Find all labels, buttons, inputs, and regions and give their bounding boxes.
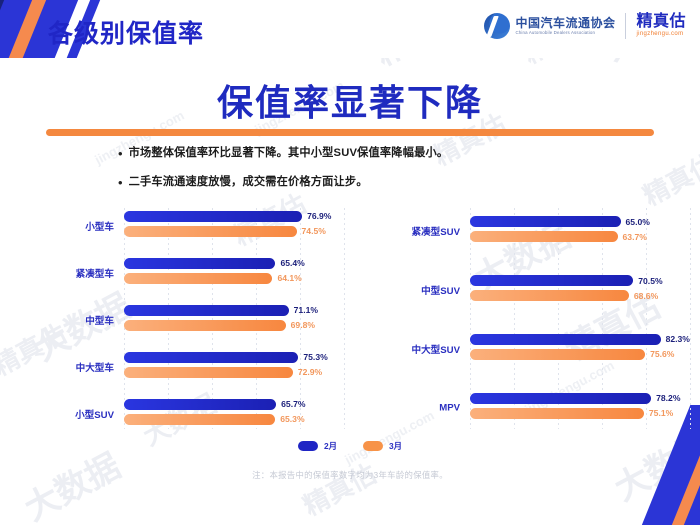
bar-value-label: 82.3% [666, 334, 690, 344]
slide-header: 各级别保值率 中国汽车流通协会 China Automobile Dealers… [0, 0, 700, 58]
bar-group: MPV78.2%75.1% [470, 393, 690, 423]
bar-feb[interactable] [124, 211, 302, 222]
bar-mar[interactable] [124, 320, 286, 331]
bar-row: 75.6% [470, 349, 690, 360]
chart-right: 紧凑型SUV65.0%63.7%中型SUV70.5%68.6%中大型SUV82.… [360, 200, 690, 435]
legend-swatch-icon [363, 441, 383, 451]
jingzhengu-name-cn: 精真估 [636, 14, 686, 31]
bar-row: 65.0% [470, 216, 690, 227]
footnote: 注：本报告中的保值率数字均为3年车龄的保值率。 [0, 469, 700, 481]
bar-row: 65.7% [124, 399, 344, 410]
bar-feb[interactable] [470, 334, 661, 345]
bar-value-label: 65.4% [280, 258, 304, 268]
bar-mar[interactable] [124, 273, 272, 284]
bullet-text: 二手车流通速度放慢，成交需在价格方面让步。 [129, 175, 368, 190]
category-label: 中大型车 [76, 360, 114, 374]
slide-root: 精真估大数据精真估大数据精真估精真估大数据精真估大数据大数据jingzhengu… [0, 0, 700, 525]
title-divider [46, 129, 654, 136]
bar-mar[interactable] [470, 408, 644, 419]
category-label: MPV [439, 402, 460, 413]
legend-label: 3月 [389, 440, 402, 452]
bar-group: 中大型车75.3%72.9% [124, 352, 344, 382]
bar-row: 72.9% [124, 367, 344, 378]
bar-group: 紧凑型车65.4%64.1% [124, 258, 344, 288]
bar-mar[interactable] [124, 367, 293, 378]
bar-mar[interactable] [470, 231, 618, 242]
bar-row: 71.1% [124, 305, 344, 316]
charts-area: 小型车76.9%74.5%紧凑型车65.4%64.1%中型车71.1%69.8%… [0, 200, 700, 435]
bar-group: 小型车76.9%74.5% [124, 211, 344, 241]
bar-feb[interactable] [470, 393, 651, 404]
bullet-item: •市场整体保值率环比显著下降。其中小型SUV保值率降幅最小。 [118, 146, 618, 161]
bar-row: 64.1% [124, 273, 344, 284]
category-label: 中型SUV [421, 283, 460, 297]
jingzhengu-logo: 精真估 jingzhengu.com [636, 14, 686, 39]
bar-row: 70.5% [470, 275, 690, 286]
category-label: 紧凑型SUV [411, 224, 460, 238]
gridline [344, 208, 345, 429]
legend-item[interactable]: 3月 [363, 440, 402, 452]
bar-value-label: 78.2% [656, 393, 680, 403]
category-label: 中大型SUV [411, 342, 460, 356]
bar-value-label: 65.3% [280, 414, 304, 424]
watermark-text: 精真估 [296, 454, 382, 523]
plot-area: 紧凑型SUV65.0%63.7%中型SUV70.5%68.6%中大型SUV82.… [470, 200, 690, 435]
bar-feb[interactable] [124, 352, 298, 363]
bullet-marker-icon: • [118, 175, 123, 190]
bar-group: 中型SUV70.5%68.6% [470, 275, 690, 305]
bar-mar[interactable] [470, 290, 629, 301]
bullet-list: •市场整体保值率环比显著下降。其中小型SUV保值率降幅最小。•二手车流通速度放慢… [118, 146, 618, 204]
bar-group: 中大型SUV82.3%75.6% [470, 334, 690, 364]
bar-value-label: 76.9% [307, 211, 331, 221]
bar-group: 中型车71.1%69.8% [124, 305, 344, 335]
bar-mar[interactable] [470, 349, 645, 360]
brand-bar: 中国汽车流通协会 China Automobile Dealers Associ… [484, 13, 686, 39]
bar-feb[interactable] [124, 305, 289, 316]
bar-row: 74.5% [124, 226, 344, 237]
bar-value-label: 75.1% [649, 408, 673, 418]
header-title: 各级别保值率 [48, 14, 204, 50]
gridline [690, 208, 691, 429]
bar-value-label: 71.1% [294, 305, 318, 315]
bar-row: 75.1% [470, 408, 690, 419]
cada-emblem-icon [484, 13, 510, 39]
bar-value-label: 75.3% [303, 352, 327, 362]
jingzhengu-domain: jingzhengu.com [636, 31, 686, 39]
page-title: 保值率显著下降 [0, 74, 700, 126]
bar-feb[interactable] [124, 258, 275, 269]
bullet-text: 市场整体保值率环比显著下降。其中小型SUV保值率降幅最小。 [129, 146, 449, 161]
bar-value-label: 72.9% [298, 367, 322, 377]
bar-row: 65.3% [124, 414, 344, 425]
bullet-marker-icon: • [118, 146, 123, 161]
bar-row: 65.4% [124, 258, 344, 269]
bar-row: 76.9% [124, 211, 344, 222]
bar-row: 75.3% [124, 352, 344, 363]
bar-row: 78.2% [470, 393, 690, 404]
bar-value-label: 69.8% [291, 320, 315, 330]
category-label: 中型车 [85, 313, 114, 327]
bar-value-label: 74.5% [302, 226, 326, 236]
bar-value-label: 64.1% [277, 273, 301, 283]
legend-label: 2月 [324, 440, 337, 452]
bar-row: 63.7% [470, 231, 690, 242]
bar-feb[interactable] [470, 216, 621, 227]
category-label: 小型SUV [75, 407, 114, 421]
bar-value-label: 75.6% [650, 349, 674, 359]
bar-row: 68.6% [470, 290, 690, 301]
bar-feb[interactable] [470, 275, 633, 286]
bar-value-label: 65.7% [281, 399, 305, 409]
bar-group: 紧凑型SUV65.0%63.7% [470, 216, 690, 246]
cada-name-en: China Automobile Dealers Association [515, 30, 615, 35]
bar-feb[interactable] [124, 399, 276, 410]
brand-divider [625, 13, 626, 39]
bar-group: 小型SUV65.7%65.3% [124, 399, 344, 429]
category-label: 紧凑型车 [76, 266, 114, 280]
bar-mar[interactable] [124, 414, 275, 425]
plot-area: 小型车76.9%74.5%紧凑型车65.4%64.1%中型车71.1%69.8%… [124, 200, 344, 435]
bar-row: 82.3% [470, 334, 690, 345]
legend-swatch-icon [298, 441, 318, 451]
chart-legend: 2月3月 [0, 440, 700, 452]
bar-value-label: 70.5% [638, 276, 662, 286]
cada-name-cn: 中国汽车流通协会 [515, 17, 615, 30]
category-label: 小型车 [85, 219, 114, 233]
bullet-item: •二手车流通速度放慢，成交需在价格方面让步。 [118, 175, 618, 190]
bar-value-label: 63.7% [623, 232, 647, 242]
chart-left: 小型车76.9%74.5%紧凑型车65.4%64.1%中型车71.1%69.8%… [14, 200, 344, 435]
bar-value-label: 65.0% [626, 217, 650, 227]
cada-logo: 中国汽车流通协会 China Automobile Dealers Associ… [484, 13, 615, 39]
bar-mar[interactable] [124, 226, 297, 237]
legend-item[interactable]: 2月 [298, 440, 337, 452]
bar-value-label: 68.6% [634, 291, 658, 301]
bar-row: 69.8% [124, 320, 344, 331]
